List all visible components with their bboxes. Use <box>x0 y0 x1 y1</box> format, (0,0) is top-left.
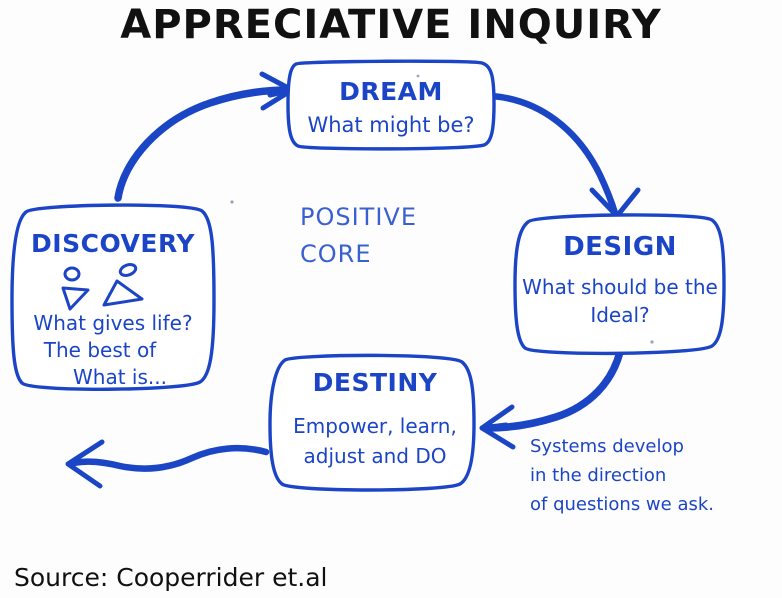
annotation-line-2: in the direction <box>530 465 666 486</box>
whiteboard-diagram: APPRECIATIVE INQUIRY DREAM What migh <box>0 0 782 598</box>
node-design[interactable]: DESIGN What should be the Ideal? <box>515 215 724 354</box>
arrow-dream-to-design <box>492 96 638 216</box>
node-dream-line-1: What might be? <box>307 113 474 137</box>
node-discovery-heading: DISCOVERY <box>31 229 195 258</box>
node-discovery-line-3: What is... <box>73 365 167 389</box>
node-dream[interactable]: DREAM What might be? <box>288 61 494 149</box>
node-design-heading: DESIGN <box>563 232 677 262</box>
arrow-destiny-outward <box>68 442 266 486</box>
annotation-line-3: of questions we ask. <box>530 494 714 515</box>
arrow-discovery-to-dream <box>118 74 292 198</box>
node-destiny[interactable]: DESTINY Empower, learn, adjust and DO <box>270 355 474 490</box>
arrow-design-to-destiny <box>482 352 620 447</box>
paper-speck <box>650 340 653 343</box>
positive-core-label: POSITIVE CORE <box>300 203 417 268</box>
node-dream-heading: DREAM <box>339 77 443 106</box>
node-destiny-line-2: adjust and DO <box>304 444 447 468</box>
annotation-systems-develop: Systems develop in the direction of ques… <box>530 436 714 515</box>
node-discovery[interactable]: DISCOVERY What gives life? The best of W… <box>12 205 214 389</box>
node-discovery-line-1: What gives life? <box>33 311 192 335</box>
paper-speck <box>417 75 420 78</box>
node-discovery-line-2: The best of <box>43 338 157 362</box>
annotation-line-1: Systems develop <box>530 436 684 457</box>
page-title: APPRECIATIVE INQUIRY <box>120 2 662 48</box>
node-destiny-line-1: Empower, learn, <box>293 414 457 438</box>
positive-core-line-2: CORE <box>300 240 372 268</box>
node-design-line-2: Ideal? <box>590 303 649 327</box>
paper-speck <box>230 200 233 203</box>
diagram-canvas: APPRECIATIVE INQUIRY DREAM What migh <box>0 0 782 598</box>
node-destiny-heading: DESTINY <box>313 368 438 397</box>
source-label: Source: Cooperrider et.al <box>14 563 327 592</box>
node-design-line-1: What should be the <box>522 275 718 299</box>
positive-core-line-1: POSITIVE <box>300 203 417 231</box>
